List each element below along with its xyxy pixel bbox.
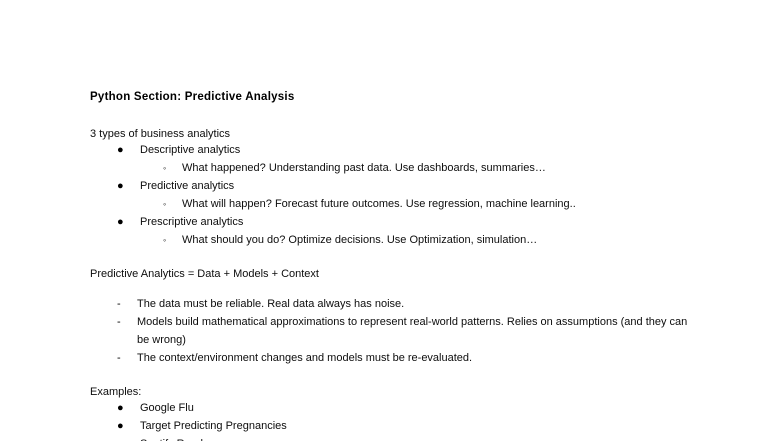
list-item-label: What happened? Understanding past data. …: [182, 162, 546, 174]
document-page: Python Section: Predictive Analysis 3 ty…: [0, 0, 784, 441]
spacer: [90, 367, 690, 385]
intro-line: 3 types of business analytics: [90, 127, 690, 141]
list-item: - Models build mathematical approximatio…: [90, 313, 690, 349]
list-item: ● Target Predicting Pregnancies: [90, 417, 690, 435]
list-item-label: The data must be reliable. Real data alw…: [137, 298, 404, 310]
list-item: ◦ What will happen? Forecast future outc…: [90, 195, 690, 213]
examples-heading: Examples:: [90, 385, 690, 399]
list-item-label: Prescriptive analytics: [140, 216, 243, 228]
list-item-label: The context/environment changes and mode…: [137, 352, 472, 364]
list-item-label: Google Flu: [140, 402, 194, 414]
list-item-label: What will happen? Forecast future outcom…: [182, 198, 576, 210]
list-item: ● Descriptive analytics: [90, 141, 690, 159]
dash-icon: -: [117, 313, 127, 331]
spacer: [90, 104, 690, 127]
list-item: ◦ What happened? Understanding past data…: [90, 159, 690, 177]
list-item: ● Spotify Renders: [90, 435, 690, 441]
list-item: ● Predictive analytics: [90, 177, 690, 195]
bullet-disc-icon: ●: [117, 435, 127, 441]
spacer: [90, 249, 690, 267]
bullet-circle-icon: ◦: [163, 231, 173, 249]
bullet-disc-icon: ●: [117, 399, 127, 417]
list-item-label: Descriptive analytics: [140, 144, 240, 156]
list-item: - The data must be reliable. Real data a…: [90, 295, 690, 313]
list-item-label: Predictive analytics: [140, 180, 234, 192]
bullet-disc-icon: ●: [117, 141, 127, 159]
equation-line: Predictive Analytics = Data + Models + C…: [90, 267, 690, 281]
list-item: - The context/environment changes and mo…: [90, 349, 690, 367]
dash-icon: -: [117, 349, 127, 367]
bullet-circle-icon: ◦: [163, 195, 173, 213]
spacer: [90, 281, 690, 295]
list-item-label: What should you do? Optimize decisions. …: [182, 234, 537, 246]
list-item: ● Prescriptive analytics: [90, 213, 690, 231]
examples-list: ● Google Flu ● Target Predicting Pregnan…: [90, 399, 690, 441]
bullet-disc-icon: ●: [117, 177, 127, 195]
bullet-circle-icon: ◦: [163, 159, 173, 177]
analytics-types-list: ● Descriptive analytics ◦ What happened?…: [90, 141, 690, 249]
document-body: Python Section: Predictive Analysis 3 ty…: [90, 90, 690, 441]
list-item-label: Target Predicting Pregnancies: [140, 420, 287, 432]
page-title: Python Section: Predictive Analysis: [90, 90, 690, 104]
bullet-disc-icon: ●: [117, 417, 127, 435]
list-item: ● Google Flu: [90, 399, 690, 417]
principles-list: - The data must be reliable. Real data a…: [90, 295, 690, 367]
bullet-disc-icon: ●: [117, 213, 127, 231]
list-item: ◦ What should you do? Optimize decisions…: [90, 231, 690, 249]
list-item-label: Models build mathematical approximations…: [137, 316, 687, 346]
dash-icon: -: [117, 295, 127, 313]
